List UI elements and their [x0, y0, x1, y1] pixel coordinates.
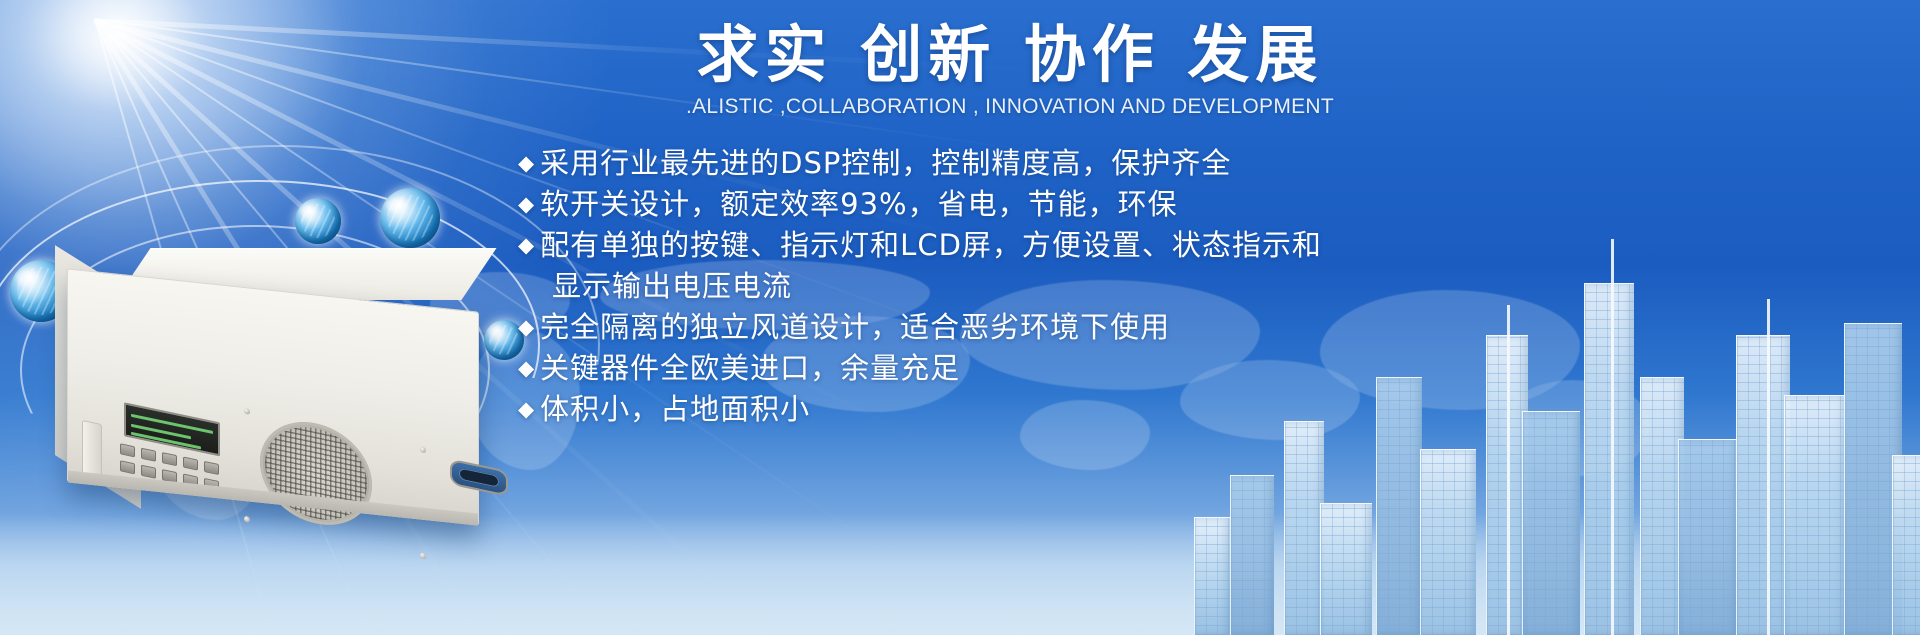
page-title: 求实 创新 协作 发展	[510, 18, 1510, 91]
globe-icon	[380, 188, 440, 248]
power-supply-device	[55, 248, 485, 548]
list-item: ◆ 采用行业最先进的DSP控制，控制精度高，保护齐全	[518, 143, 1510, 184]
diamond-bullet-icon: ◆	[518, 307, 534, 348]
feature-text: 采用行业最先进的DSP控制，控制精度高，保护齐全	[540, 143, 1231, 184]
diamond-bullet-icon: ◆	[518, 143, 534, 184]
antenna-spire	[1767, 299, 1770, 635]
antenna-spire	[1611, 239, 1614, 635]
list-item: ◆ 配有单独的按键、指示灯和LCD屏，方便设置、状态指示和	[518, 225, 1510, 266]
list-item: ◆ 软开关设计，额定效率93%，省电，节能，环保	[518, 184, 1510, 225]
diamond-bullet-icon: ◆	[518, 225, 534, 266]
page-subtitle: .ALISTIC ,COLLABORATION , INNOVATION AND…	[510, 95, 1510, 119]
cooling-fan-grille	[260, 412, 372, 536]
feature-list: ◆ 采用行业最先进的DSP控制，控制精度高，保护齐全 ◆ 软开关设计，额定效率9…	[510, 143, 1510, 430]
device-front-panel	[67, 268, 479, 525]
diamond-bullet-icon: ◆	[518, 184, 534, 225]
feature-text: 完全隔离的独立风道设计，适合恶劣环境下使用	[540, 307, 1170, 348]
diamond-bullet-icon: ◆	[518, 389, 534, 430]
feature-text: 关键器件全欧美进口，余量充足	[540, 348, 960, 389]
feature-text: 配有单独的按键、指示灯和LCD屏，方便设置、状态指示和	[540, 225, 1322, 266]
list-item: ◆ 关键器件全欧美进口，余量充足	[518, 348, 1510, 389]
promo-banner: 求实 创新 协作 发展 .ALISTIC ,COLLABORATION , IN…	[0, 0, 1920, 635]
feature-text: 体积小，占地面积小	[540, 389, 810, 430]
banner-text-block: 求实 创新 协作 发展 .ALISTIC ,COLLABORATION , IN…	[510, 18, 1510, 430]
list-item: ◆ 完全隔离的独立风道设计，适合恶劣环境下使用	[518, 307, 1510, 348]
globe-icon	[295, 198, 341, 244]
panel-screw	[420, 552, 426, 559]
panel-screw	[420, 446, 426, 453]
feature-text: 显示输出电压电流	[552, 266, 792, 307]
diamond-bullet-icon: ◆	[518, 348, 534, 389]
panel-screw	[244, 408, 250, 415]
panel-screw	[244, 516, 250, 523]
list-item-continuation: 显示输出电压电流	[518, 266, 1510, 307]
list-item: ◆ 体积小，占地面积小	[518, 389, 1510, 430]
feature-text: 软开关设计，额定效率93%，省电，节能，环保	[540, 184, 1177, 225]
rack-handle-left	[82, 420, 102, 486]
